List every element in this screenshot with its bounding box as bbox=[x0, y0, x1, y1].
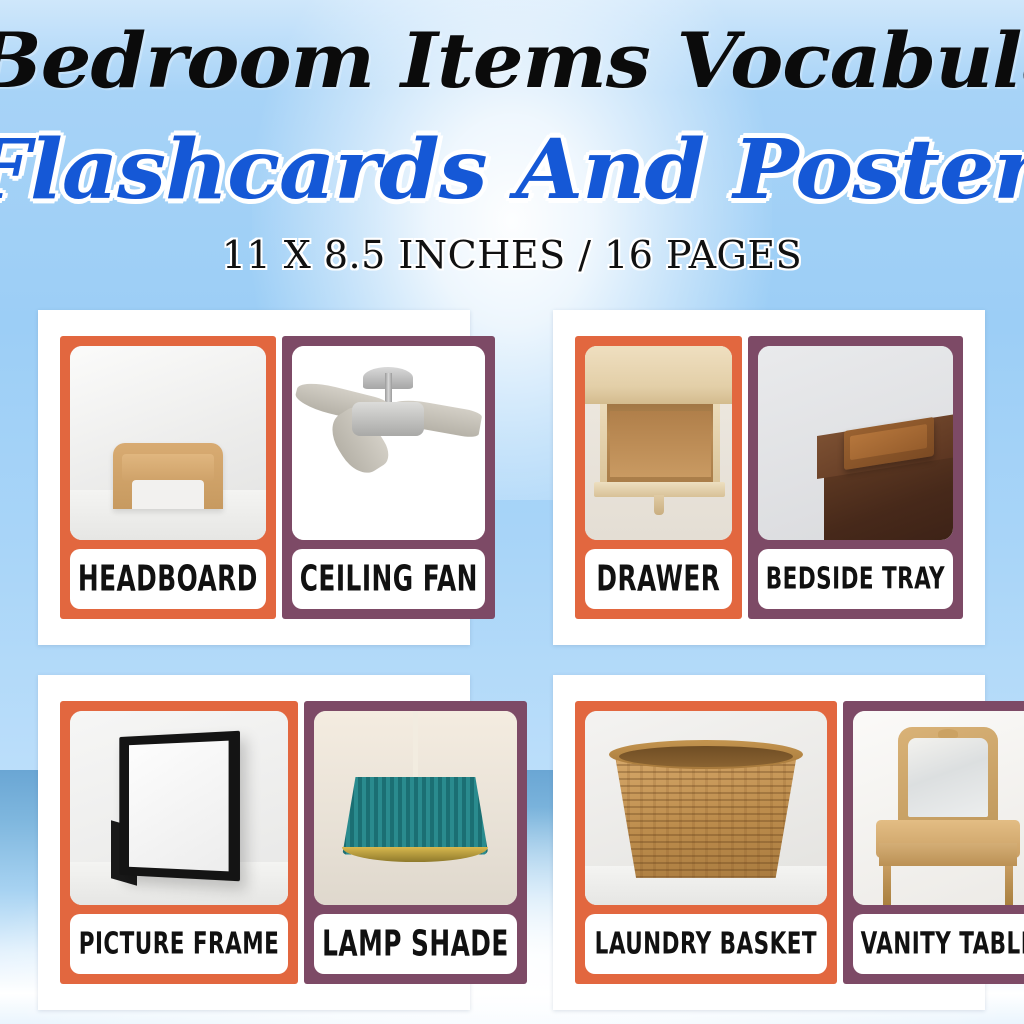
flashcard-page-grid: HEADBOARD CEILING FAN bbox=[0, 300, 1024, 1024]
flashcard-label-text: CEILING FAN bbox=[299, 558, 477, 599]
flashcard-label-text: DRAWER bbox=[597, 558, 721, 599]
flashcard-bedside-tray[interactable]: BEDSIDE TRAY bbox=[748, 336, 963, 619]
flashcard-label: DRAWER bbox=[585, 549, 732, 609]
flashcard-laundry-basket[interactable]: LAUNDRY BASKET bbox=[575, 701, 837, 984]
flashcard-picture-frame[interactable]: PICTURE FRAME bbox=[60, 701, 298, 984]
flashcard-label: VANITY TABLE bbox=[853, 914, 1024, 974]
flashcard-drawer[interactable]: DRAWER bbox=[575, 336, 742, 619]
poster-canvas: Bedroom Items Vocabulary Flashcards And … bbox=[0, 0, 1024, 1024]
laundry-basket-photo bbox=[585, 711, 827, 905]
page-subtitle: Flashcards And Posters bbox=[0, 122, 1024, 218]
drawer-photo bbox=[585, 346, 732, 540]
flashcard-label-text: VANITY TABLE bbox=[860, 926, 1024, 961]
vanity-table-photo bbox=[853, 711, 1024, 905]
flashcard-headboard[interactable]: HEADBOARD bbox=[60, 336, 276, 619]
flashcard-label: LAMP SHADE bbox=[314, 914, 517, 974]
flashcard-page[interactable]: PICTURE FRAME LAMP SHADE bbox=[38, 675, 470, 1010]
flashcard-label-text: PICTURE FRAME bbox=[79, 926, 280, 961]
flashcard-label: CEILING FAN bbox=[292, 549, 486, 609]
page-title: Bedroom Items Vocabulary bbox=[0, 16, 1024, 105]
flashcard-label: HEADBOARD bbox=[70, 549, 266, 609]
headboard-photo bbox=[70, 346, 266, 540]
flashcard-label: PICTURE FRAME bbox=[70, 914, 288, 974]
flashcard-page[interactable]: LAUNDRY BASKET VANITY TABLE bbox=[553, 675, 985, 1010]
flashcard-label: LAUNDRY BASKET bbox=[585, 914, 827, 974]
flashcard-page[interactable]: DRAWER BEDSIDE TRAY bbox=[553, 310, 985, 645]
page-meta: 11 X 8.5 INCHES / 16 PAGES bbox=[0, 233, 1024, 277]
ceiling-fan-photo bbox=[292, 346, 486, 540]
flashcard-page[interactable]: HEADBOARD CEILING FAN bbox=[38, 310, 470, 645]
flashcard-lamp-shade[interactable]: LAMP SHADE bbox=[304, 701, 527, 984]
picture-frame-photo bbox=[70, 711, 288, 905]
bedside-tray-photo bbox=[758, 346, 953, 540]
flashcard-label-text: BEDSIDE TRAY bbox=[766, 561, 945, 596]
flashcard-ceiling-fan[interactable]: CEILING FAN bbox=[282, 336, 496, 619]
lamp-shade-photo bbox=[314, 711, 517, 905]
flashcard-label-text: LAMP SHADE bbox=[322, 923, 509, 964]
flashcard-label: BEDSIDE TRAY bbox=[758, 549, 953, 609]
flashcard-label-text: HEADBOARD bbox=[78, 558, 258, 599]
poster-header: Bedroom Items Vocabulary Flashcards And … bbox=[0, 0, 1024, 300]
flashcard-vanity-table[interactable]: VANITY TABLE bbox=[843, 701, 1024, 984]
flashcard-label-text: LAUNDRY BASKET bbox=[595, 926, 817, 961]
